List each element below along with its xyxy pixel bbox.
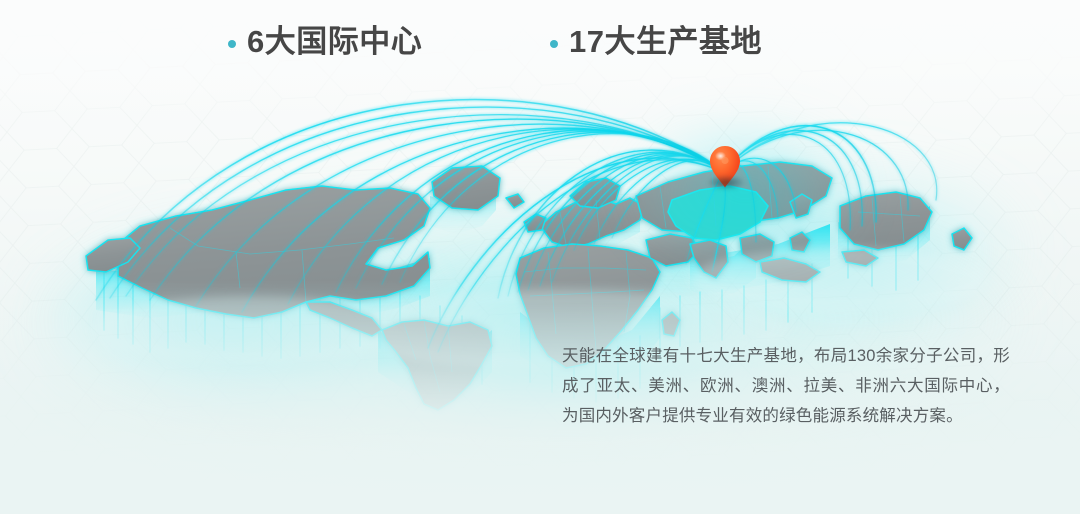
hub-glow bbox=[640, 130, 850, 250]
china-region bbox=[668, 186, 768, 240]
new-zealand bbox=[952, 228, 972, 250]
global-network-slide: 6大国际中心 17大生产基地 天能在全球建有十七大生产基地，布局130余家分子公… bbox=[0, 0, 1080, 514]
hex-pattern-background bbox=[0, 0, 1080, 514]
dot-bullet-icon bbox=[228, 40, 236, 48]
alaska bbox=[86, 238, 140, 272]
heading-production-bases-label: 17大生产基地 bbox=[569, 20, 762, 64]
headquarters-marker[interactable] bbox=[708, 144, 742, 190]
indonesia bbox=[760, 258, 820, 282]
heading-production-bases: 17大生产基地 bbox=[550, 20, 762, 64]
dot-bullet-icon bbox=[550, 40, 558, 48]
south-america bbox=[382, 320, 492, 410]
iceland bbox=[506, 194, 524, 208]
southeast-asia bbox=[740, 234, 774, 262]
heading-international-centers: 6大国际中心 bbox=[228, 20, 422, 64]
description-paragraph: 天能在全球建有十七大生产基地，布局130余家分子公司，形成了亚太、美洲、欧洲、澳… bbox=[562, 341, 1010, 431]
greenland bbox=[432, 166, 500, 210]
scandinavia bbox=[570, 178, 620, 208]
asia-glow bbox=[690, 170, 1020, 330]
middle-east bbox=[646, 234, 700, 266]
headings-row: 6大国际中心 17大生产基地 bbox=[0, 20, 1080, 78]
top-fade-overlay bbox=[0, 0, 1080, 120]
british-isles bbox=[524, 214, 546, 232]
philippines bbox=[790, 232, 810, 252]
papua-new-guinea bbox=[842, 250, 878, 266]
map-pin-icon bbox=[708, 144, 742, 190]
india bbox=[690, 240, 728, 278]
central-america bbox=[306, 302, 382, 336]
heading-international-centers-label: 6大国际中心 bbox=[247, 20, 422, 64]
australia bbox=[840, 192, 932, 250]
world-map bbox=[0, 0, 1080, 514]
europe bbox=[540, 198, 644, 248]
americas-glow bbox=[40, 230, 420, 420]
north-america bbox=[118, 186, 430, 318]
russia-north-asia bbox=[636, 162, 832, 232]
pin-shadow bbox=[709, 176, 743, 189]
description-block: 天能在全球建有十七大生产基地，布局130余家分子公司，形成了亚太、美洲、欧洲、澳… bbox=[562, 341, 1010, 431]
madagascar bbox=[662, 312, 680, 336]
network-arcs bbox=[96, 100, 937, 352]
japan bbox=[790, 194, 812, 218]
